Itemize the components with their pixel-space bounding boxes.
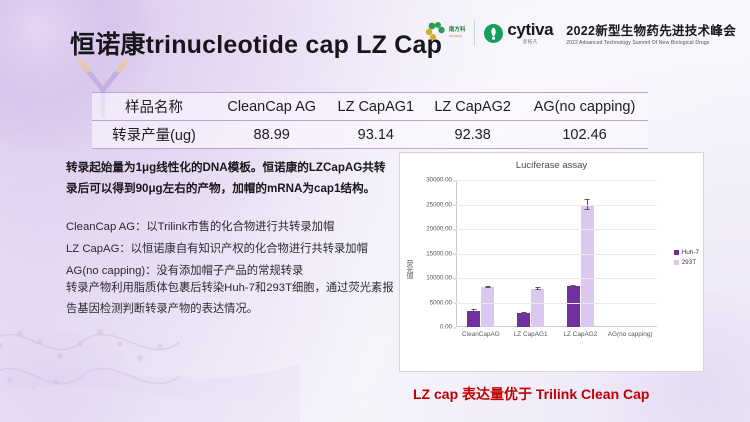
chart-title: Luciferase assay [400,160,703,171]
chart-error-bar [571,285,576,287]
chart-gridline [456,278,657,279]
chart-y-tick-label: 15000.00 [426,250,452,257]
table-row: 转录产量(ug) 88.99 93.14 92.38 102.46 [92,121,648,149]
chart-legend-swatch [674,250,679,255]
cytiva-subtitle: 思拓凡 [507,39,553,45]
chart-bar [517,313,530,327]
chart-bar [467,311,480,327]
dna-helix-decoration-icon [0,320,180,410]
flower-icon [425,21,447,45]
description-list: CleanCap AG：以Trilink市售的化合物进行共转录加帽 LZ Cap… [66,216,396,282]
summit-title-en: 2022 Advanced Technology Summit Of New B… [566,40,736,46]
table-cell: 102.46 [521,121,648,149]
chart-legend-swatch [674,260,679,265]
cytiva-wordmark: cytiva [507,21,553,38]
summit-logo: 2022新型生物药先进技术峰会 2022 Advanced Technology… [566,20,736,46]
chart-y-tick-label: 20000.00 [426,226,452,233]
chart-y-tick-label: 5000.00 [430,299,452,306]
table-cell: 88.99 [216,121,327,149]
chart-gridline [456,303,657,304]
cytiva-logo: cytiva 思拓凡 [484,21,553,45]
chart-error-bar [521,312,526,315]
chart-gridline [456,180,657,181]
table-cell: 93.14 [327,121,424,149]
chart-error-bar [485,286,490,288]
chart-error-bar [471,309,476,313]
chart-y-tick-label: 30000.00 [426,177,452,184]
background-blob-bottom-left [0,330,150,422]
nanfang-logo: 南方科 nanfang [425,21,466,45]
table-header-row: 样品名称 CleanCap AG LZ CapAG1 LZ CapAG2 AG(… [92,93,648,121]
conclusion-text: LZ cap 表达量优于 Trilink Clean Cap [413,384,649,404]
chart-x-tick-label: AG(no capping) [599,331,661,339]
table-cell: 92.38 [424,121,521,149]
table-header-cell: LZ CapAG1 [327,93,424,121]
luciferase-assay-chart: Luciferase assay CleanCapAGLZ CapAG1LZ C… [399,152,704,372]
table-header-cell: LZ CapAG2 [424,93,521,121]
slide-canvas: 恒诺康trinucleotide cap LZ Cap 南方科 nanfang … [0,0,750,422]
chart-legend-item: 293T [674,259,699,266]
wave-decoration [0,302,300,422]
logo-bar: 南方科 nanfang cytiva 思拓凡 2022新型生物药先进技术峰会 2… [425,20,736,46]
chart-bar [481,287,494,327]
summit-title-cn: 2022新型生物药先进技术峰会 [566,20,736,39]
chart-legend: Huh-7293T [674,249,699,269]
method-paragraph: 转录产物利用脂质体包裹后转染Huh-7和293T细胞，通过荧光素报告基因检测判断… [66,278,396,320]
chart-bar [567,286,580,327]
chart-legend-item: Huh-7 [674,249,699,256]
chart-y-axis-label: 荧光值 [404,260,414,278]
chart-legend-label: Huh-7 [682,249,699,256]
chart-y-tick-label: 0.00 [440,324,452,331]
cytiva-mark-icon [484,24,503,43]
nanfang-logo-en: nanfang [449,34,466,38]
chart-gridline [456,229,657,230]
table-header-cell: 样品名称 [92,93,216,121]
intro-paragraph: 转录起始量为1μg线性化的DNA模板。恒诺康的LZCapAG共转录后可以得到90… [66,158,388,199]
chart-bar [581,205,594,328]
logo-divider [474,20,475,46]
chart-y-tick-label: 25000.00 [426,201,452,208]
chart-error-bar [535,287,540,290]
chart-y-tick-label: 10000.00 [426,275,452,282]
chart-bar [531,289,544,327]
table-header-cell: CleanCap AG [216,93,327,121]
page-title: 恒诺康trinucleotide cap LZ Cap [70,25,442,61]
chart-legend-label: 293T [682,259,697,266]
list-item: CleanCap AG：以Trilink市售的化合物进行共转录加帽 [66,216,396,238]
chart-plot-area: CleanCapAGLZ CapAG1LZ CapAG2AG(no cappin… [456,180,655,327]
chart-gridline [456,254,657,255]
yield-table: 样品名称 CleanCap AG LZ CapAG1 LZ CapAG2 AG(… [92,92,648,149]
table-cell: 转录产量(ug) [92,121,216,149]
chart-gridline [456,205,657,206]
table-header-cell: AG(no capping) [521,93,648,121]
list-item: LZ CapAG：以恒诺康自有知识产权的化合物进行共转录加帽 [66,238,396,260]
